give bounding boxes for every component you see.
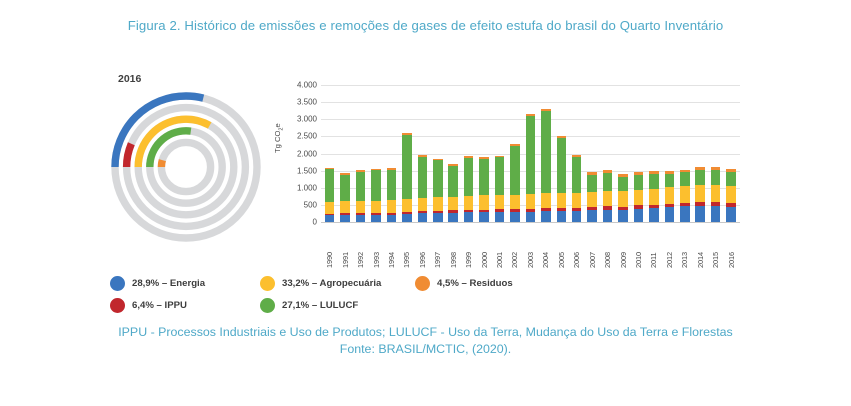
bar-segment-energia xyxy=(665,207,675,222)
x-tick-label: 2009 xyxy=(619,224,628,268)
figure-caption: IPPU - Processos Industriais e Uso de Pr… xyxy=(0,324,851,358)
stacked-bar xyxy=(448,164,458,222)
bar-segment-agropecuaria xyxy=(726,186,736,204)
stacked-bar xyxy=(387,168,397,222)
bar-column xyxy=(646,85,661,222)
bar-column xyxy=(538,85,553,222)
emissions-bar-chart: Tg CO2e 4.0003.5003.0002.5002.0001.5001.… xyxy=(275,85,740,300)
bar-segment-energia xyxy=(557,211,567,222)
bar-segment-energia xyxy=(448,213,458,222)
bar-segment-agropecuaria xyxy=(587,192,597,207)
bar-segment-agropecuaria xyxy=(371,201,381,213)
bar-segment-energia xyxy=(634,209,644,222)
bar-segment-lulucf xyxy=(418,157,428,198)
x-tick: 2000 xyxy=(476,224,491,268)
x-tick: 1992 xyxy=(353,224,368,268)
bar-segment-agropecuaria xyxy=(649,189,659,205)
stacked-bar xyxy=(464,156,474,222)
legend-label-residuos: 4,5% – Residuos xyxy=(437,278,513,289)
bar-column xyxy=(492,85,507,222)
bar-column xyxy=(677,85,692,222)
bar-segment-agropecuaria xyxy=(634,190,644,206)
legend-row: 6,4% – IPPU27,1% – LULUCF xyxy=(110,294,580,316)
stacked-bar xyxy=(711,167,721,222)
x-tick: 2007 xyxy=(584,224,599,268)
stacked-bar xyxy=(680,170,690,222)
x-tick: 1995 xyxy=(399,224,414,268)
bar-segment-agropecuaria xyxy=(510,195,520,210)
bar-segment-agropecuaria xyxy=(387,200,397,213)
bar-segment-lulucf xyxy=(634,175,644,190)
x-tick: 2009 xyxy=(615,224,630,268)
bar-segment-agropecuaria xyxy=(603,191,613,206)
stacked-bar xyxy=(356,170,366,222)
bar-column xyxy=(615,85,630,222)
bar-segment-agropecuaria xyxy=(526,194,536,209)
radial-track-ippu xyxy=(127,108,246,227)
y-tick-label: 2.500 xyxy=(297,132,317,141)
x-tick: 2005 xyxy=(554,224,569,268)
x-tick: 2013 xyxy=(677,224,692,268)
bar-column xyxy=(569,85,584,222)
bar-segment-lulucf xyxy=(711,170,721,185)
x-tick: 2001 xyxy=(492,224,507,268)
bar-series-container xyxy=(321,85,740,222)
bar-segment-lulucf xyxy=(510,146,520,195)
bar-segment-energia xyxy=(526,212,536,222)
bar-segment-lulucf xyxy=(356,172,366,201)
x-tick-label: 2016 xyxy=(727,224,736,268)
bar-segment-lulucf xyxy=(387,170,397,200)
bar-column xyxy=(353,85,368,222)
stacked-bar xyxy=(418,155,428,222)
x-tick: 2010 xyxy=(631,224,646,268)
x-tick: 2006 xyxy=(569,224,584,268)
bar-segment-agropecuaria xyxy=(325,202,335,214)
stacked-bar xyxy=(587,172,597,222)
y-tick-label: 1.500 xyxy=(297,166,317,175)
bar-segment-agropecuaria xyxy=(356,201,366,213)
radial-year-label: 2016 xyxy=(118,73,141,85)
x-tick: 2004 xyxy=(538,224,553,268)
bar-segment-agropecuaria xyxy=(711,185,721,202)
bar-column xyxy=(384,85,399,222)
bar-segment-lulucf xyxy=(340,175,350,201)
bar-segment-lulucf xyxy=(618,177,628,192)
caption-source: Fonte: BRASIL/MCTIC, (2020). xyxy=(0,341,851,358)
stacked-bar xyxy=(649,171,659,222)
bar-segment-lulucf xyxy=(325,169,335,201)
legend-item-agropecuaria: 33,2% – Agropecuária xyxy=(260,276,381,291)
bar-column xyxy=(554,85,569,222)
stacked-bar xyxy=(695,167,705,222)
x-tick-label: 2005 xyxy=(557,224,566,268)
x-tick-label: 1991 xyxy=(341,224,350,268)
x-tick-label: 2013 xyxy=(680,224,689,268)
bar-segment-agropecuaria xyxy=(433,197,443,210)
bar-column xyxy=(723,85,738,222)
x-tick-label: 2015 xyxy=(711,224,720,268)
bar-segment-energia xyxy=(495,212,505,222)
caption-line-1: IPPU - Processos Industriais e Uso de Pr… xyxy=(118,325,668,339)
y-tick-label: 500 xyxy=(304,200,317,209)
bar-segment-energia xyxy=(387,215,397,222)
bar-segment-agropecuaria xyxy=(464,196,474,210)
x-tick-label: 2014 xyxy=(696,224,705,268)
bar-segment-lulucf xyxy=(448,166,458,197)
stacked-bar xyxy=(557,136,567,222)
x-tick-label: 1999 xyxy=(464,224,473,268)
x-tick-label: 1992 xyxy=(356,224,365,268)
radial-chart: 2016 xyxy=(100,73,280,258)
x-tick: 2002 xyxy=(507,224,522,268)
bar-segment-agropecuaria xyxy=(448,197,458,211)
bar-segment-agropecuaria xyxy=(618,191,628,207)
x-tick-label: 2008 xyxy=(603,224,612,268)
legend-swatch-energia xyxy=(110,276,125,291)
bar-segment-energia xyxy=(510,212,520,222)
bar-segment-agropecuaria xyxy=(680,186,690,203)
x-tick: 2015 xyxy=(708,224,723,268)
x-tick: 1990 xyxy=(322,224,337,268)
bar-segment-lulucf xyxy=(479,159,489,196)
bar-segment-energia xyxy=(464,212,474,222)
legend-swatch-ippu xyxy=(110,298,125,313)
bar-column xyxy=(399,85,414,222)
stacked-bar xyxy=(526,114,536,222)
legend-item-residuos: 4,5% – Residuos xyxy=(415,276,513,291)
bar-segment-lulucf xyxy=(572,157,582,192)
bar-column xyxy=(476,85,491,222)
bar-segment-energia xyxy=(618,210,628,222)
bar-segment-energia xyxy=(402,214,412,222)
figure-page: Figura 2. Histórico de emissões e remoçõ… xyxy=(0,0,851,406)
x-tick-label: 2011 xyxy=(649,224,658,268)
bar-segment-lulucf xyxy=(695,170,705,185)
bar-segment-agropecuaria xyxy=(340,201,350,213)
x-tick: 1994 xyxy=(384,224,399,268)
bar-column xyxy=(708,85,723,222)
bar-segment-agropecuaria xyxy=(572,193,582,208)
x-tick-label: 1996 xyxy=(418,224,427,268)
y-tick-label: 1.000 xyxy=(297,183,317,192)
figure-title: Figura 2. Histórico de emissões e remoçõ… xyxy=(0,18,851,33)
bar-segment-agropecuaria xyxy=(541,193,551,208)
x-tick: 2016 xyxy=(723,224,738,268)
bar-column xyxy=(584,85,599,222)
bar-segment-agropecuaria xyxy=(402,199,412,212)
stacked-bar xyxy=(541,109,551,222)
bar-segment-lulucf xyxy=(557,138,567,193)
bar-segment-agropecuaria xyxy=(695,185,705,202)
x-tick: 2008 xyxy=(600,224,615,268)
x-tick-label: 2007 xyxy=(588,224,597,268)
chart-legend: 28,9% – Energia33,2% – Agropecuária4,5% … xyxy=(110,272,580,318)
bar-segment-lulucf xyxy=(433,160,443,197)
y-axis-tick-labels: 4.0003.5003.0002.5002.0001.5001.0005000 xyxy=(283,85,317,225)
bar-segment-lulucf xyxy=(726,172,736,186)
x-tick-label: 2003 xyxy=(526,224,535,268)
bar-segment-agropecuaria xyxy=(557,193,567,209)
bar-segment-agropecuaria xyxy=(665,187,675,203)
bar-column xyxy=(415,85,430,222)
bar-segment-energia xyxy=(695,206,705,222)
bar-segment-lulucf xyxy=(371,170,381,200)
legend-swatch-residuos xyxy=(415,276,430,291)
x-tick: 1999 xyxy=(461,224,476,268)
bar-segment-energia xyxy=(726,207,736,222)
bar-segment-energia xyxy=(541,211,551,222)
legend-label-agropecuaria: 33,2% – Agropecuária xyxy=(282,278,381,289)
x-tick: 1997 xyxy=(430,224,445,268)
bar-segment-energia xyxy=(680,206,690,222)
bar-segment-agropecuaria xyxy=(418,198,428,211)
x-tick-label: 2010 xyxy=(634,224,643,268)
legend-label-ippu: 6,4% – IPPU xyxy=(132,300,187,311)
legend-label-lulucf: 27,1% – LULUCF xyxy=(282,300,358,311)
bar-segment-energia xyxy=(587,210,597,222)
legend-label-energia: 28,9% – Energia xyxy=(132,278,205,289)
bar-segment-energia xyxy=(325,215,335,222)
x-tick: 2011 xyxy=(646,224,661,268)
stacked-bar xyxy=(603,170,613,222)
x-tick: 2003 xyxy=(523,224,538,268)
bar-segment-lulucf xyxy=(464,158,474,196)
caption-line-2: e Florestas xyxy=(671,325,732,339)
x-tick: 1993 xyxy=(368,224,383,268)
x-tick-label: 2004 xyxy=(541,224,550,268)
x-axis-tick-labels: 1990199119921993199419951996199719981999… xyxy=(321,224,740,268)
y-tick-label: 3.000 xyxy=(297,115,317,124)
bar-column xyxy=(693,85,708,222)
bar-column xyxy=(662,85,677,222)
legend-item-energia: 28,9% – Energia xyxy=(110,276,205,291)
radial-track-residuos xyxy=(161,142,210,191)
legend-item-lulucf: 27,1% – LULUCF xyxy=(260,298,358,313)
bar-segment-lulucf xyxy=(603,173,613,191)
legend-item-ippu: 6,4% – IPPU xyxy=(110,298,187,313)
stacked-bar xyxy=(402,133,412,222)
y-tick-label: 2.000 xyxy=(297,149,317,158)
x-tick-label: 1995 xyxy=(402,224,411,268)
bar-segment-agropecuaria xyxy=(495,195,505,209)
plot-area xyxy=(321,85,740,223)
x-tick-label: 2000 xyxy=(480,224,489,268)
bar-segment-energia xyxy=(572,211,582,222)
bar-segment-lulucf xyxy=(680,172,690,186)
stacked-bar xyxy=(618,174,628,222)
stacked-bar xyxy=(433,159,443,222)
x-tick-label: 2002 xyxy=(510,224,519,268)
stacked-bar xyxy=(495,156,505,222)
legend-swatch-lulucf xyxy=(260,298,275,313)
x-tick-label: 1993 xyxy=(372,224,381,268)
x-tick-label: 1990 xyxy=(325,224,334,268)
x-tick-label: 2012 xyxy=(665,224,674,268)
bar-segment-lulucf xyxy=(587,175,597,192)
bar-segment-energia xyxy=(603,210,613,223)
bar-segment-lulucf xyxy=(402,135,412,199)
x-tick: 1998 xyxy=(446,224,461,268)
bar-column xyxy=(368,85,383,222)
stacked-bar xyxy=(726,169,736,222)
bar-column xyxy=(523,85,538,222)
bar-segment-lulucf xyxy=(541,111,551,193)
y-tick-label: 0 xyxy=(313,218,317,227)
x-tick: 2012 xyxy=(662,224,677,268)
x-tick-label: 2001 xyxy=(495,224,504,268)
bar-column xyxy=(507,85,522,222)
bar-segment-energia xyxy=(649,208,659,222)
bar-segment-lulucf xyxy=(526,116,536,194)
bar-column xyxy=(600,85,615,222)
x-tick-label: 1998 xyxy=(449,224,458,268)
y-tick-label: 3.500 xyxy=(297,98,317,107)
bar-column xyxy=(631,85,646,222)
bar-segment-agropecuaria xyxy=(479,195,489,209)
bar-column xyxy=(322,85,337,222)
x-tick: 1996 xyxy=(415,224,430,268)
x-tick-label: 1994 xyxy=(387,224,396,268)
stacked-bar xyxy=(572,155,582,222)
x-tick: 1991 xyxy=(337,224,352,268)
bar-column xyxy=(461,85,476,222)
legend-row: 28,9% – Energia33,2% – Agropecuária4,5% … xyxy=(110,272,580,294)
bar-segment-energia xyxy=(418,213,428,222)
bar-segment-lulucf xyxy=(495,157,505,195)
bar-segment-lulucf xyxy=(665,174,675,188)
bar-column xyxy=(446,85,461,222)
legend-swatch-agropecuaria xyxy=(260,276,275,291)
x-tick-label: 2006 xyxy=(572,224,581,268)
bar-segment-energia xyxy=(479,212,489,222)
bar-segment-energia xyxy=(433,213,443,222)
stacked-bar xyxy=(665,171,675,222)
bar-segment-energia xyxy=(340,215,350,222)
stacked-bar xyxy=(340,173,350,222)
bar-column xyxy=(430,85,445,222)
stacked-bar xyxy=(634,172,644,222)
stacked-bar xyxy=(371,169,381,222)
radial-chart-svg xyxy=(100,87,280,257)
x-tick-label: 1997 xyxy=(433,224,442,268)
bar-segment-lulucf xyxy=(649,174,659,189)
x-tick: 2014 xyxy=(693,224,708,268)
stacked-bar xyxy=(510,144,520,222)
bar-segment-energia xyxy=(371,215,381,222)
bar-column xyxy=(337,85,352,222)
bar-segment-energia xyxy=(711,206,721,222)
y-tick-label: 4.000 xyxy=(297,81,317,90)
stacked-bar xyxy=(479,157,489,222)
stacked-bar xyxy=(325,168,335,222)
bar-segment-energia xyxy=(356,215,366,222)
